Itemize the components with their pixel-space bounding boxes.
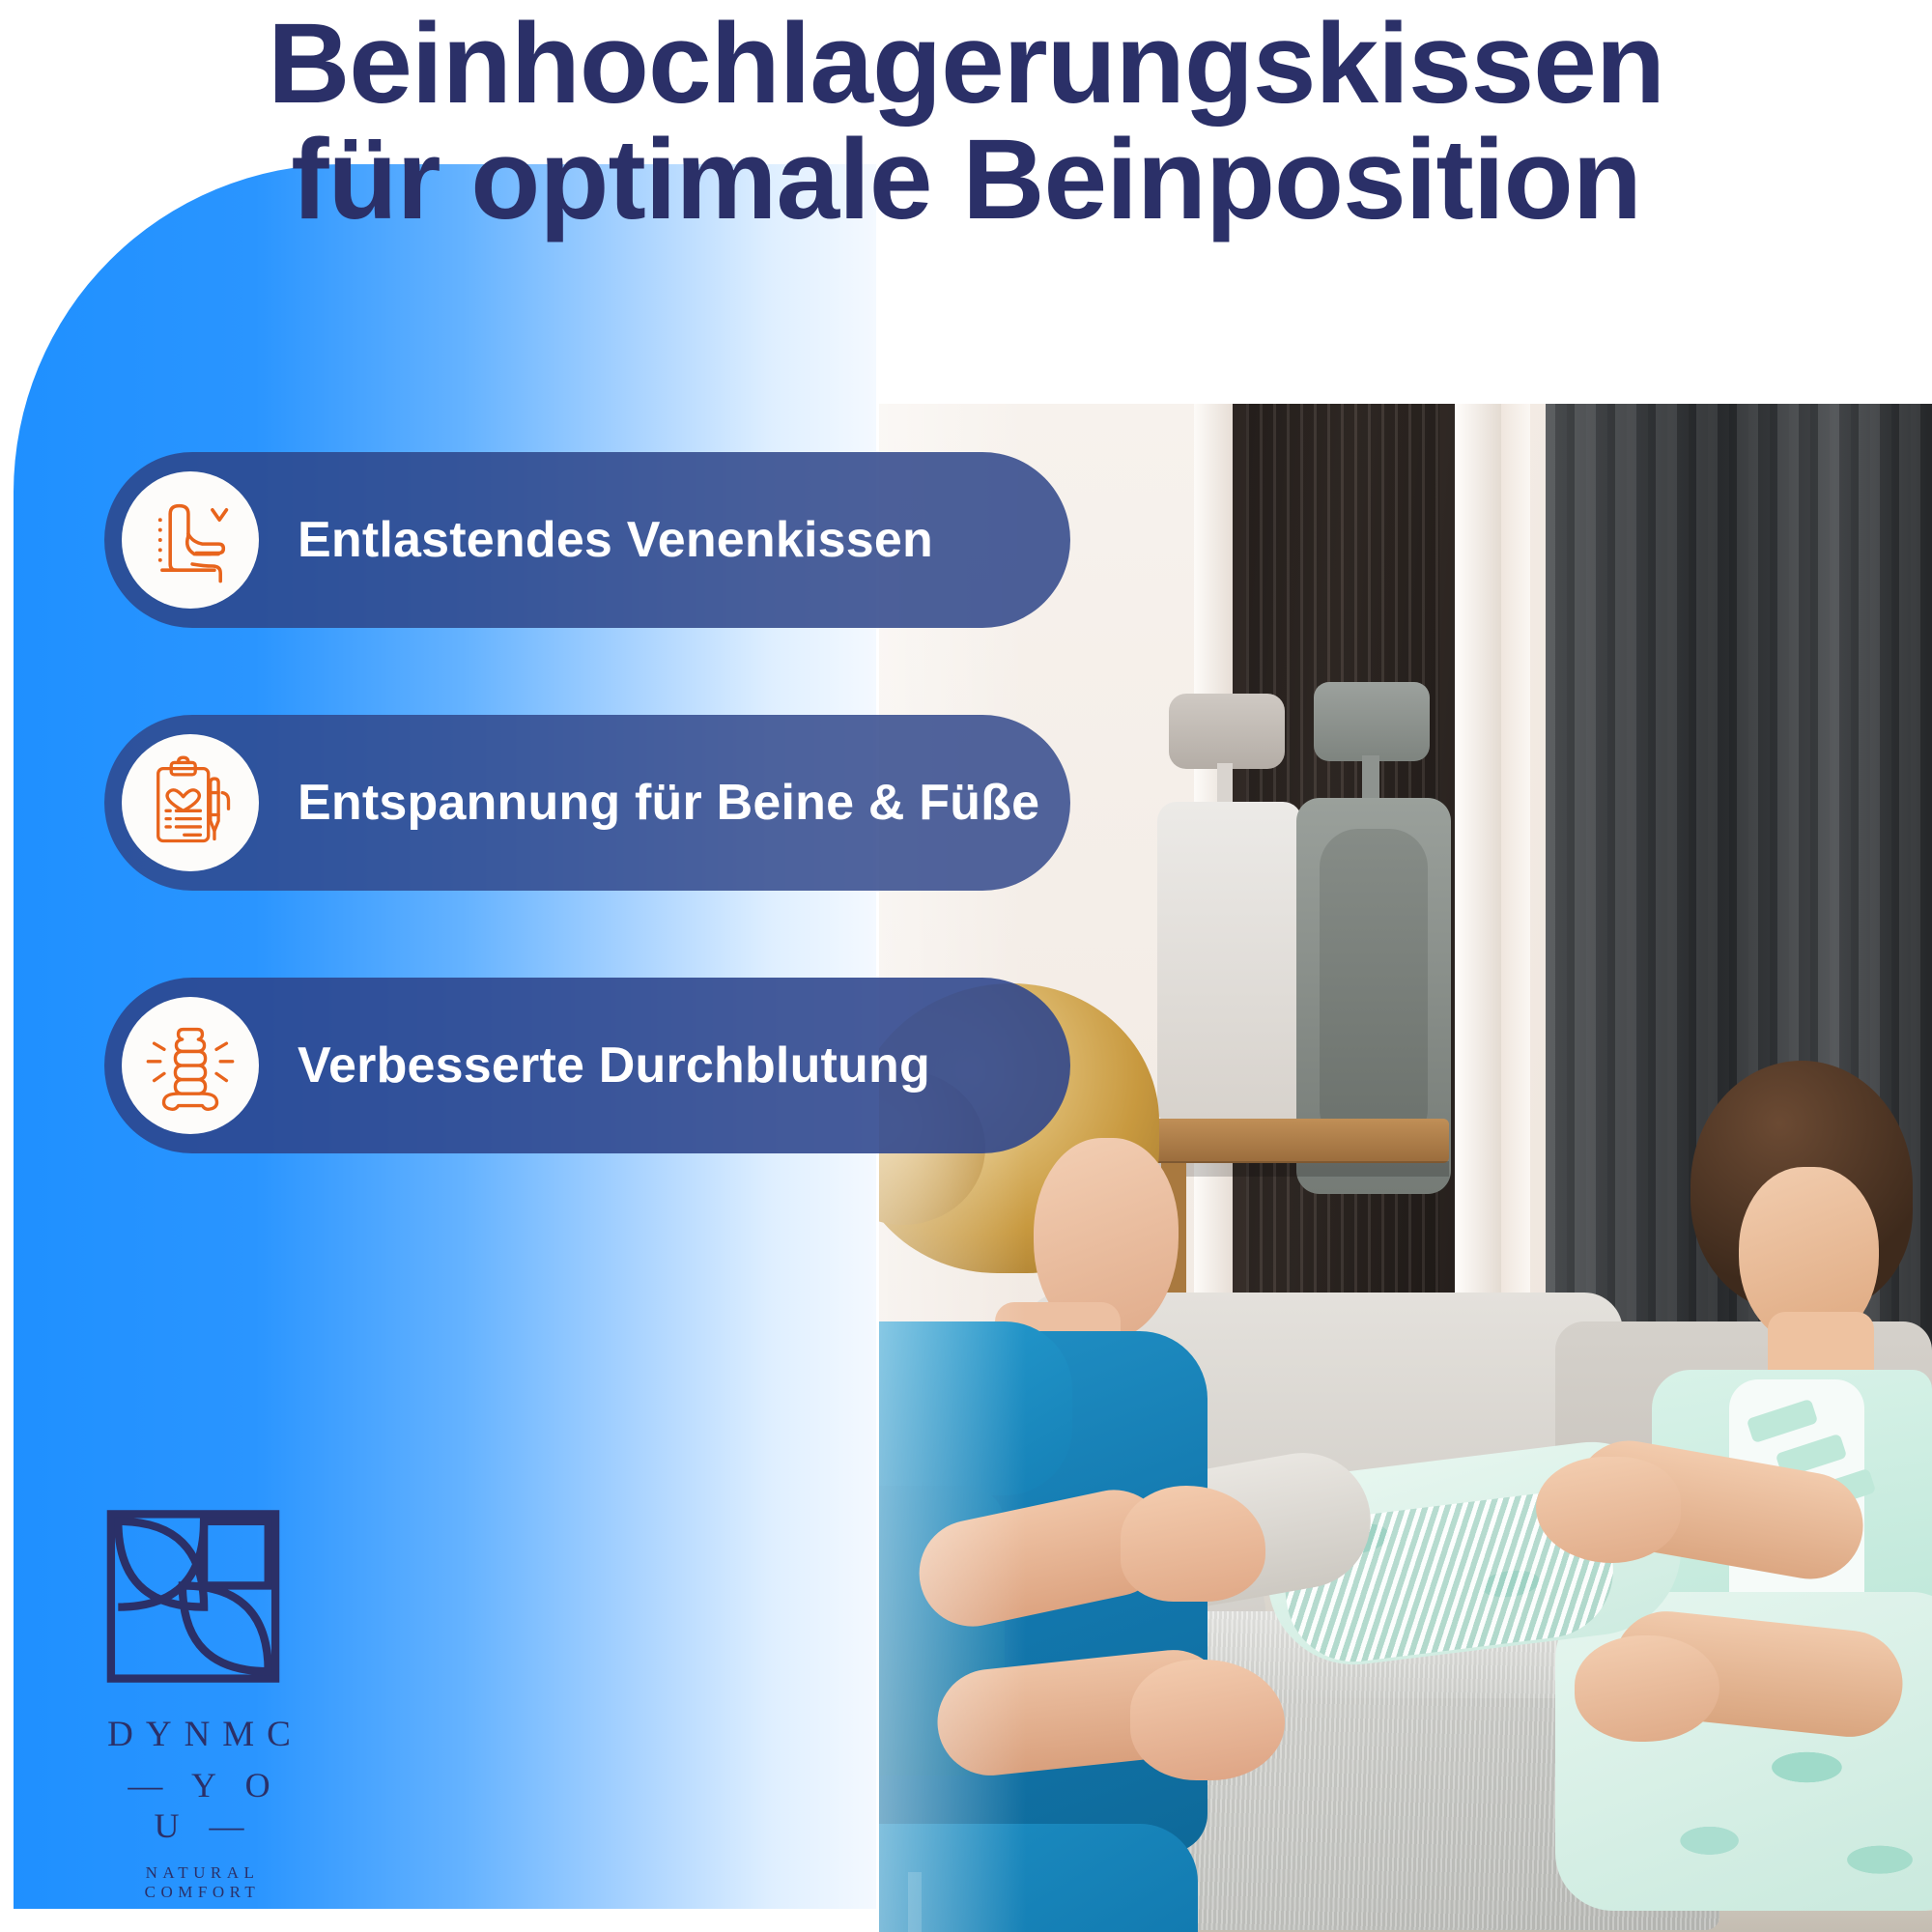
brand-name: DYNMC xyxy=(97,1714,304,1755)
leaf-square-logo-icon xyxy=(97,1507,290,1686)
feature-pill-durchblutung[interactable]: Verbesserte Durchblutung xyxy=(104,978,1070,1153)
brand-sub-name: — Y O U — xyxy=(97,1765,304,1846)
feature-pill-venenkissen[interactable]: Entlastendes Venenkissen xyxy=(104,452,1070,628)
seated-person-spine-icon xyxy=(122,471,259,609)
feature-pill-label: Verbesserte Durchblutung xyxy=(298,1037,930,1094)
brand-tagline: NATURAL COMFORT xyxy=(97,1863,304,1902)
feature-pill-label: Entlastendes Venenkissen xyxy=(298,511,933,569)
product-banner: Beinhochlagerungskissen für optimale Bei… xyxy=(0,0,1932,1932)
spine-vertebrae-icon xyxy=(122,997,259,1134)
page-title-line1: Beinhochlagerungskissen xyxy=(268,0,1664,128)
page-title-line2: für optimale Beinposition xyxy=(0,122,1932,238)
brand-logo: DYNMC — Y O U — NATURAL COMFORT xyxy=(97,1507,338,1902)
feature-pill-entspannung[interactable]: Entspannung für Beine & Füße xyxy=(104,715,1070,891)
feature-list: Entlastendes Venenkissen xyxy=(104,452,1070,1240)
clipboard-heart-pen-icon xyxy=(122,734,259,871)
page-title: Beinhochlagerungskissen für optimale Bei… xyxy=(0,6,1932,239)
feature-pill-label: Entspannung für Beine & Füße xyxy=(298,774,1039,832)
brand-wordmark: DYNMC — Y O U — NATURAL COMFORT xyxy=(97,1714,304,1902)
